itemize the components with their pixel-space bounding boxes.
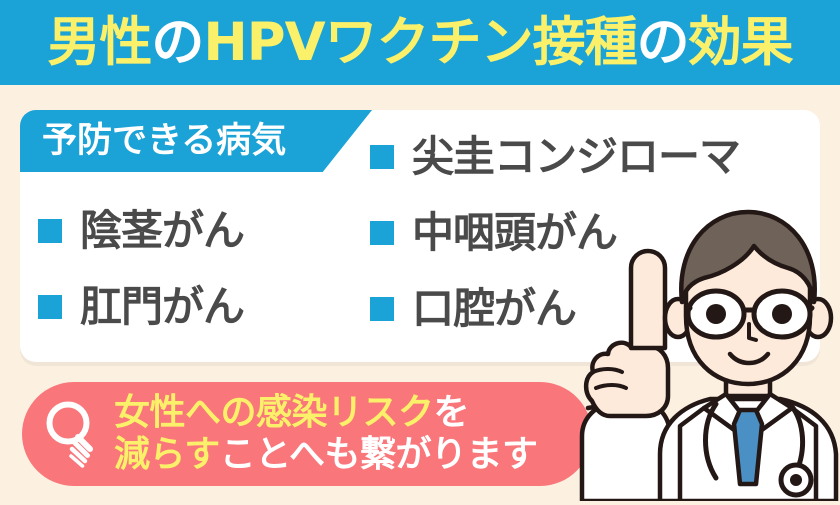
title-part-1: 男性: [47, 12, 151, 73]
footer-line-1-rest: を: [434, 392, 470, 433]
list-item-label: 陰茎がん: [80, 210, 244, 252]
title-part-3: HPVワクチン接種: [203, 12, 636, 73]
title-part-4: の: [637, 12, 689, 73]
footer-message-banner: 女性への感染リスクを 減らすことへも繋がります: [22, 382, 592, 486]
page-title: 男性のHPVワクチン接種の効果: [47, 16, 792, 69]
footer-message-line-1: 女性への感染リスクを: [114, 392, 537, 434]
list-item-label: 尖圭コンジローマ: [412, 136, 740, 178]
list-item-label: 肛門がん: [80, 286, 244, 328]
list-item-label: 口腔がん: [412, 288, 576, 330]
list-item: 尖圭コンジローマ: [370, 136, 740, 178]
square-bullet-icon: [38, 295, 62, 319]
square-bullet-icon: [370, 145, 394, 169]
square-bullet-icon: [370, 221, 394, 245]
lightbulb-icon: [44, 399, 102, 469]
footer-line-2-highlight: 減らす: [114, 434, 220, 475]
footer-line-2-rest: ことへも繋がります: [220, 434, 538, 475]
list-item: 肛門がん: [38, 286, 244, 328]
header-banner: 男性のHPVワクチン接種の効果: [0, 0, 840, 85]
title-part-5: 効果: [689, 12, 793, 73]
infographic-root: 男性のHPVワクチン接種の効果 予防できる病気 陰茎がん 肛門がん 尖圭コンジロ…: [0, 0, 840, 501]
disease-list: 陰茎がん 肛門がん 尖圭コンジローマ 中咽頭がん 口腔がん: [20, 110, 820, 362]
title-part-2: の: [151, 12, 203, 73]
footer-message-text: 女性への感染リスクを 減らすことへも繋がります: [114, 392, 537, 477]
footer-message-line-2: 減らすことへも繋がります: [114, 434, 537, 476]
list-item-label: 中咽頭がん: [412, 212, 617, 254]
list-item: 口腔がん: [370, 288, 576, 330]
list-item: 中咽頭がん: [370, 212, 617, 254]
square-bullet-icon: [370, 297, 394, 321]
square-bullet-icon: [38, 219, 62, 243]
list-item: 陰茎がん: [38, 210, 244, 252]
footer-line-1-highlight: 女性への感染リスク: [114, 392, 434, 433]
